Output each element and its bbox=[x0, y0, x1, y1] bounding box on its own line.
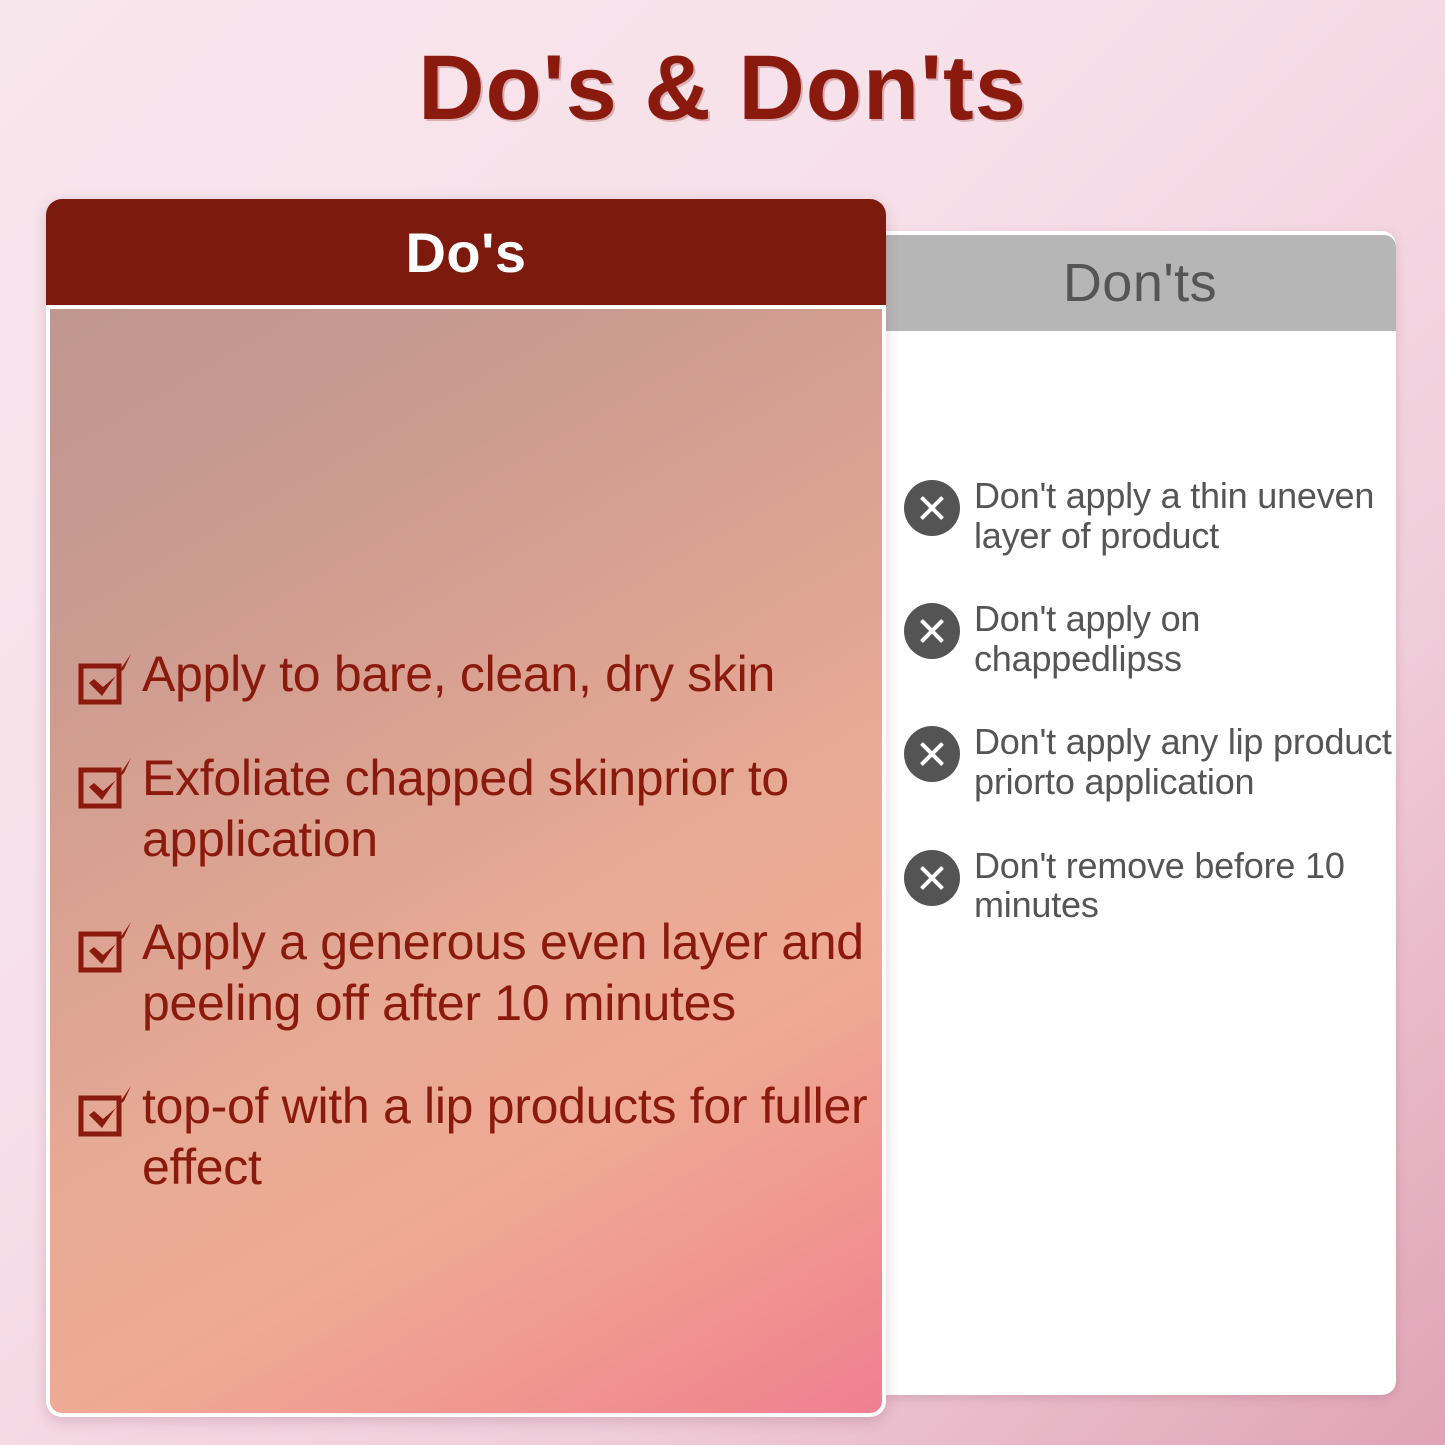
dos-panel: Apply to bare, clean, dry skin Exfoliate… bbox=[46, 199, 886, 1417]
list-item: Don't apply any lip product priorto appl… bbox=[904, 720, 1394, 801]
dont-item-label: Don't apply on chappedlipss bbox=[974, 597, 1394, 678]
check-box-icon bbox=[78, 920, 136, 974]
donts-panel: Don'ts Don't apply a thin uneven layer o… bbox=[884, 231, 1396, 1395]
x-circle-icon bbox=[904, 480, 960, 536]
check-box-icon bbox=[78, 1084, 136, 1138]
dos-panel-body: Apply to bare, clean, dry skin Exfoliate… bbox=[50, 309, 882, 1413]
dos-header-label: Do's bbox=[405, 220, 526, 285]
do-item-label: Apply to bare, clean, dry skin bbox=[142, 644, 775, 705]
dont-item-label: Don't apply any lip product priorto appl… bbox=[974, 720, 1394, 801]
check-box-icon bbox=[78, 652, 136, 706]
list-item: Don't apply a thin uneven layer of produ… bbox=[904, 474, 1394, 555]
list-item: top-of with a lip products for fuller ef… bbox=[78, 1076, 868, 1198]
do-item-label: Apply a generous even layer and peeling … bbox=[142, 912, 868, 1034]
page-title: Do's & Don'ts bbox=[0, 38, 1445, 139]
do-item-label: Exfoliate chapped skinprior to applicati… bbox=[142, 748, 868, 870]
list-item: Don't remove before 10 minutes bbox=[904, 844, 1394, 925]
x-circle-icon bbox=[904, 850, 960, 906]
dont-item-label: Don't remove before 10 minutes bbox=[974, 844, 1394, 925]
donts-list: Don't apply a thin uneven layer of produ… bbox=[904, 474, 1394, 967]
dos-list: Apply to bare, clean, dry skin Exfoliate… bbox=[78, 644, 868, 1240]
x-circle-icon bbox=[904, 603, 960, 659]
do-item-label: top-of with a lip products for fuller ef… bbox=[142, 1076, 868, 1198]
dont-item-label: Don't apply a thin uneven layer of produ… bbox=[974, 474, 1394, 555]
dos-header: Do's bbox=[46, 199, 886, 305]
x-circle-icon bbox=[904, 726, 960, 782]
list-item: Apply to bare, clean, dry skin bbox=[78, 644, 868, 706]
list-item: Apply a generous even layer and peeling … bbox=[78, 912, 868, 1034]
donts-header-label: Don'ts bbox=[1063, 252, 1217, 314]
check-box-icon bbox=[78, 756, 136, 810]
donts-header: Don'ts bbox=[884, 235, 1396, 331]
list-item: Exfoliate chapped skinprior to applicati… bbox=[78, 748, 868, 870]
list-item: Don't apply on chappedlipss bbox=[904, 597, 1394, 678]
